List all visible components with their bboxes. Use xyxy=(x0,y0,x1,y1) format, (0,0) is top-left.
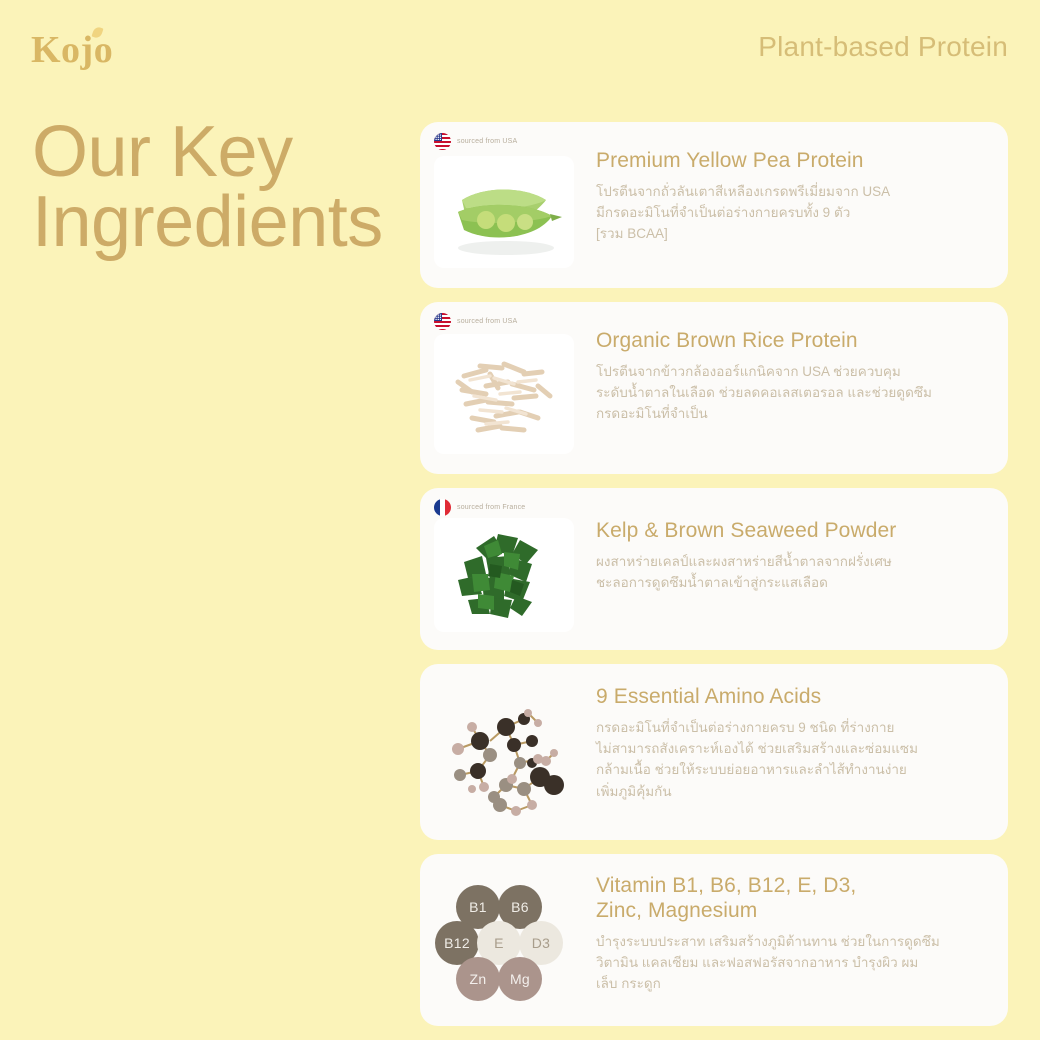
card-body: Vitamin B1, B6, B12, E, D3, Zinc, Magnes… xyxy=(588,854,1008,1021)
card-media: sourced from USA xyxy=(420,122,588,272)
card-media: B1 B6 B12 E D3 Zn Mg xyxy=(420,854,588,1011)
desc-line: โปรตีนจากข้าวกล้องออร์แกนิคจาก USA ช่วยค… xyxy=(596,361,986,382)
desc-line: กรดอะมิโนที่จำเป็นต่อร่างกายครบ 9 ชนิด ท… xyxy=(596,717,986,738)
source-label: sourced from USA xyxy=(457,138,517,145)
card-media xyxy=(420,664,588,821)
desc-line: ไม่สามารถสังเคราะห์เองได้ ช่วยเสริมสร้าง… xyxy=(596,738,986,759)
desc-line: บำรุงระบบประสาท เสริมสร้างภูมิต้านทาน ช่… xyxy=(596,931,986,952)
card-media: sourced from France xyxy=(420,488,588,634)
card-title: 9 Essential Amino Acids xyxy=(596,684,986,710)
desc-line: ระดับน้ำตาลในเลือด ช่วยลดคอเลสเตอรอล และ… xyxy=(596,382,986,403)
us-flag-icon xyxy=(434,313,451,330)
source-badge: sourced from France xyxy=(428,499,588,516)
card-title-line1: Vitamin B1, B6, B12, E, D3, xyxy=(596,874,986,899)
card-description: โปรตีนจากถั่วลันเตาสีเหลืองเกรดพรีเมี่ยม… xyxy=(596,181,986,245)
us-flag-icon xyxy=(434,133,451,150)
card-body: 9 Essential Amino Acids กรดอะมิโนที่จำเป… xyxy=(588,664,1008,828)
bead-zn: Zn xyxy=(456,957,500,1001)
card-body: Kelp & Brown Seaweed Powder ผงสาหร่ายเคล… xyxy=(588,488,1008,619)
desc-line: ผงสาหร่ายเคลป์และผงสาหร่ายสีน้ำตาลจากฝรั… xyxy=(596,551,986,572)
ingredient-card-rice[interactable]: sourced from USA xyxy=(420,302,1008,474)
card-title: Kelp & Brown Seaweed Powder xyxy=(596,518,986,544)
desc-line: มีกรดอะมิโนที่จำเป็นต่อร่างกายครบทั้ง 9 … xyxy=(596,202,986,223)
card-media: sourced from USA xyxy=(420,302,588,456)
source-badge: sourced from USA xyxy=(428,313,588,330)
poster-root: Kojo Plant-based Protein Our Key Ingredi… xyxy=(0,0,1040,1040)
card-title: Vitamin B1, B6, B12, E, D3, Zinc, Magnes… xyxy=(596,874,986,924)
bead-mg: Mg xyxy=(498,957,542,1001)
card-description: โปรตีนจากข้าวกล้องออร์แกนิคจาก USA ช่วยค… xyxy=(596,361,986,425)
card-description: บำรุงระบบประสาท เสริมสร้างภูมิต้านทาน ช่… xyxy=(596,931,986,995)
fr-flag-icon xyxy=(434,499,451,516)
card-description: กรดอะมิโนที่จำเป็นต่อร่างกายครบ 9 ชนิด ท… xyxy=(596,717,986,802)
desc-line: เพิ่มภูมิคุ้มกัน xyxy=(596,781,986,802)
card-body: Premium Yellow Pea Protein โปรตีนจากถั่ว… xyxy=(588,122,1008,271)
page-title-line2: Ingredients xyxy=(32,188,383,258)
desc-line: [รวม BCAA] xyxy=(596,223,986,244)
ingredient-card-vitamins[interactable]: B1 B6 B12 E D3 Zn Mg Vitamin B1, B6, B12… xyxy=(420,854,1008,1026)
pea-pod-image xyxy=(428,152,580,272)
brand-logo[interactable]: Kojo xyxy=(31,31,113,69)
card-title-line2: Zinc, Magnesium xyxy=(596,899,986,924)
ingredient-card-kelp[interactable]: sourced from France xyxy=(420,488,1008,650)
source-label: sourced from France xyxy=(457,504,525,511)
card-title: Premium Yellow Pea Protein xyxy=(596,148,986,174)
ingredient-card-list: sourced from USA xyxy=(420,122,1008,1040)
card-description: ผงสาหร่ายเคลป์และผงสาหร่ายสีน้ำตาลจากฝรั… xyxy=(596,551,986,594)
source-badge: sourced from USA xyxy=(428,133,588,150)
desc-line: กรดอะมิโนที่จำเป็น xyxy=(596,403,986,424)
ingredient-card-amino-acids[interactable]: 9 Essential Amino Acids กรดอะมิโนที่จำเป… xyxy=(420,664,1008,840)
vitamin-cluster-image: B1 B6 B12 E D3 Zn Mg xyxy=(432,883,572,1011)
header-kicker: Plant-based Protein xyxy=(758,31,1008,63)
source-label: sourced from USA xyxy=(457,318,517,325)
desc-line: วิตามิน แคลเซียม และฟอสฟอรัสจากอาหาร บำร… xyxy=(596,952,986,973)
ingredient-card-pea[interactable]: sourced from USA xyxy=(420,122,1008,288)
desc-line: ชะลอการดูดซึมน้ำตาลเข้าสู่กระแสเลือด xyxy=(596,572,986,593)
molecule-image xyxy=(428,701,580,821)
desc-line: กล้ามเนื้อ ช่วยให้ระบบย่อยอาหารและลำไส้ท… xyxy=(596,759,986,780)
desc-line: โปรตีนจากถั่วลันเตาสีเหลืองเกรดพรีเมี่ยม… xyxy=(596,181,986,202)
card-body: Organic Brown Rice Protein โปรตีนจากข้าว… xyxy=(588,302,1008,451)
card-title: Organic Brown Rice Protein xyxy=(596,328,986,354)
desc-line: เล็บ กระดูก xyxy=(596,973,986,994)
page-title: Our Key Ingredients xyxy=(32,118,383,258)
seaweed-image xyxy=(428,518,580,634)
brown-rice-image xyxy=(428,332,580,456)
page-title-line1: Our Key xyxy=(32,118,383,188)
